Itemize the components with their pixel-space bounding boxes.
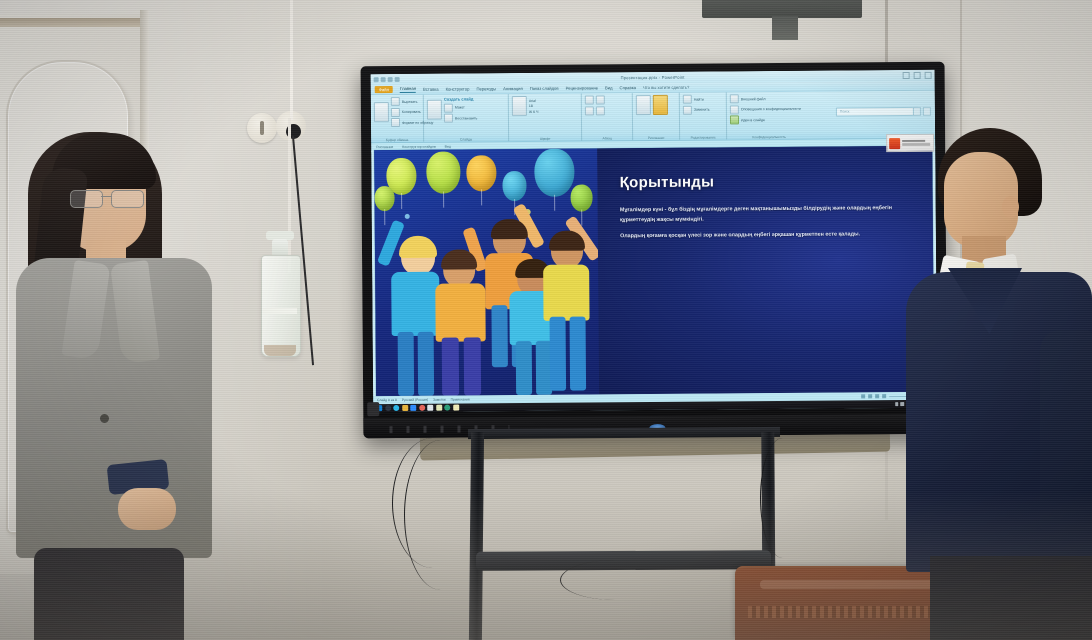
designer-icon[interactable]: [730, 115, 739, 124]
door-header-trim: [0, 18, 144, 27]
context-designer-label[interactable]: Конструктор слайдов: [402, 145, 435, 149]
ribbon-search-input[interactable]: Поиск: [836, 107, 919, 117]
balloon-cyan: [502, 171, 526, 201]
group-name-font: Шрифт: [509, 136, 581, 141]
replace-icon[interactable]: [683, 105, 692, 114]
view-normal-icon[interactable]: [862, 394, 866, 398]
language-indicator[interactable]: Русский (Россия): [402, 398, 428, 402]
layout-label: Макет: [455, 105, 465, 109]
privacy-icon[interactable]: [730, 105, 739, 114]
align-icon[interactable]: [585, 106, 594, 115]
ear: [1002, 196, 1019, 218]
slide-illustration: [374, 148, 599, 396]
reset-icon[interactable]: [444, 114, 453, 123]
format-painter-icon[interactable]: [391, 118, 400, 127]
tab-help[interactable]: Справка: [620, 85, 636, 90]
collapse-ribbon-icon[interactable]: [923, 107, 931, 116]
layout-icon[interactable]: [444, 103, 453, 112]
ceiling-mount-stem: [772, 16, 798, 40]
balloon-edge-green: [570, 184, 592, 211]
slide-title: Қорытынды: [620, 172, 913, 191]
ribbon-group-clipboard[interactable]: Вырезать Копировать Формат по образцу Бу…: [371, 95, 424, 142]
tab-file[interactable]: Файл: [375, 86, 393, 93]
view-reading-icon[interactable]: [876, 394, 880, 398]
slide-indicator: Слайд 8 из 8: [377, 398, 397, 402]
share-icon[interactable]: [913, 107, 921, 116]
volume-icon[interactable]: [901, 402, 905, 406]
glasses-icon: [70, 190, 146, 207]
notepad-icon[interactable]: [436, 405, 442, 411]
quick-styles-icon[interactable]: [653, 95, 668, 115]
group-name-drawing: Рисование: [633, 135, 679, 139]
window-controls[interactable]: [903, 72, 932, 79]
sanitizer-label: [263, 300, 297, 328]
tab-home[interactable]: Главная: [400, 86, 416, 93]
find-icon[interactable]: [683, 95, 692, 104]
close-icon[interactable]: [925, 72, 932, 79]
reset-label: Восстановить: [455, 116, 477, 120]
privacy-label: Оповещения о конфиденциальности: [741, 107, 801, 111]
group-name-slides: Слайды: [424, 137, 508, 142]
ribbon-group-editing[interactable]: Найти Заменить Редактирование: [680, 92, 727, 139]
copy-icon[interactable]: [391, 107, 400, 116]
interactive-display[interactable]: Презентация.pptx - PowerPoint Файл Главн…: [361, 62, 948, 439]
tell-me-box[interactable]: Что вы хотите сделать?: [643, 85, 689, 90]
ribbon-group-privacy[interactable]: Внешний файл Оповещения о конфиденциальн…: [727, 92, 811, 140]
slide-paragraph: Мұғалімдер күні - бұл біздің мұғалімдерг…: [620, 203, 900, 225]
tab-view[interactable]: Вид: [605, 85, 613, 90]
slide-stage[interactable]: Қорытынды Мұғалімдер күні - бұл біздің м…: [371, 146, 937, 396]
font-color-icon[interactable]: [512, 96, 527, 116]
find-label: Найти: [694, 97, 704, 101]
hanging-cord-lower: [288, 118, 291, 273]
mail-icon[interactable]: [419, 405, 425, 411]
minimize-icon[interactable]: [903, 72, 910, 79]
search-icon[interactable]: [385, 405, 391, 411]
cut-icon[interactable]: [391, 97, 400, 106]
designer-label: Идеи в слайде: [741, 118, 765, 122]
bold-italic-underline-label[interactable]: Ж К Ч: [529, 109, 539, 113]
comments-button[interactable]: Примечания: [451, 397, 470, 401]
file-explorer-icon[interactable]: [402, 405, 408, 411]
child-figure: [541, 212, 598, 390]
view-sorter-icon[interactable]: [869, 394, 873, 398]
new-slide-label: Создать слайд: [444, 96, 477, 101]
display-side-port: [367, 402, 379, 416]
group-name-paragraph: Абзац: [582, 136, 632, 140]
ribbon-group-drawing[interactable]: Рисование: [633, 93, 680, 140]
slide-paragraph: Олардың қоғамға қосқан үлесі зор және ол…: [620, 229, 900, 241]
cut-label: Вырезать: [402, 99, 418, 103]
tab-design[interactable]: Конструктор: [446, 86, 470, 91]
sanitizer-base: [264, 345, 296, 356]
hanging-cord: [290, 0, 293, 120]
ribbon-group-slides[interactable]: Создать слайд Макет Восстановить Слайды: [424, 94, 509, 142]
classroom-scene: Презентация.pptx - PowerPoint Файл Главн…: [0, 0, 1092, 640]
slide-canvas[interactable]: Қорытынды Мұғалімдер күні - бұл біздің м…: [374, 146, 934, 396]
group-name-editing: Редактирование: [680, 135, 726, 139]
restore-icon[interactable]: [914, 72, 921, 79]
notification-app-icon: [889, 138, 900, 149]
external-file-label: Внешний файл: [741, 97, 766, 101]
sanitizer-label-stripe: [263, 308, 297, 314]
shapes-icon[interactable]: [636, 95, 651, 115]
ribbon-group-font[interactable]: Arial 18 Ж К Ч Шрифт: [509, 94, 582, 142]
slide-text-panel[interactable]: Қорытынды Мұғалімдер күні - бұл біздің м…: [597, 146, 934, 395]
floor-shadow: [0, 490, 1092, 640]
powerpoint-window[interactable]: Презентация.pptx - PowerPoint Файл Главн…: [371, 70, 938, 412]
group-name-clipboard: Буфер обмена: [371, 137, 423, 141]
document-title: Презентация.pptx - PowerPoint: [371, 73, 935, 82]
group-name-privacy: Конфиденциальность: [727, 134, 811, 139]
photos-icon[interactable]: [427, 405, 433, 411]
numbering-icon[interactable]: [596, 95, 605, 104]
wall-outlet: [247, 113, 277, 143]
copy-label: Копировать: [402, 110, 421, 114]
notification-toast[interactable]: [886, 134, 934, 152]
display-screen[interactable]: Презентация.pptx - PowerPoint Файл Главн…: [371, 70, 938, 412]
context-drawing-label[interactable]: Рисование: [376, 145, 393, 149]
font-size-label[interactable]: 18: [529, 104, 539, 108]
zoom-icon[interactable]: [410, 405, 416, 411]
new-slide-icon[interactable]: [427, 100, 442, 120]
balloon-lime: [426, 152, 460, 194]
replace-label: Заменить: [694, 108, 710, 112]
ribbon-right-controls[interactable]: [913, 107, 931, 116]
font-name-label[interactable]: Arial: [529, 98, 539, 102]
edge-icon[interactable]: [393, 405, 399, 411]
tab-insert[interactable]: Вставка: [423, 87, 439, 92]
notification-text: [902, 140, 931, 147]
tab-transitions[interactable]: Переходы: [476, 86, 496, 91]
powerpoint-icon[interactable]: [444, 405, 450, 411]
ribbon-group-paragraph[interactable]: Абзац: [582, 93, 633, 140]
external-file-icon[interactable]: [730, 94, 739, 103]
tab-review[interactable]: Рецензирование: [566, 85, 598, 90]
paste-icon[interactable]: [374, 102, 389, 122]
view-slideshow-icon[interactable]: [883, 394, 887, 398]
balloon-orange: [466, 155, 496, 191]
balloon-blue: [534, 149, 574, 197]
tab-animations[interactable]: Анимация: [503, 86, 523, 91]
notes-button[interactable]: Заметки: [433, 398, 446, 402]
word-icon[interactable]: [453, 405, 459, 411]
bullets-icon[interactable]: [585, 95, 594, 104]
context-view-label[interactable]: Вид: [445, 145, 451, 149]
ribbon[interactable]: Вырезать Копировать Формат по образцу Бу…: [371, 91, 935, 143]
tab-slideshow[interactable]: Показ слайдов: [530, 86, 559, 91]
network-icon[interactable]: [895, 402, 899, 406]
blazer-button: [100, 414, 109, 423]
line-spacing-icon[interactable]: [596, 106, 605, 115]
